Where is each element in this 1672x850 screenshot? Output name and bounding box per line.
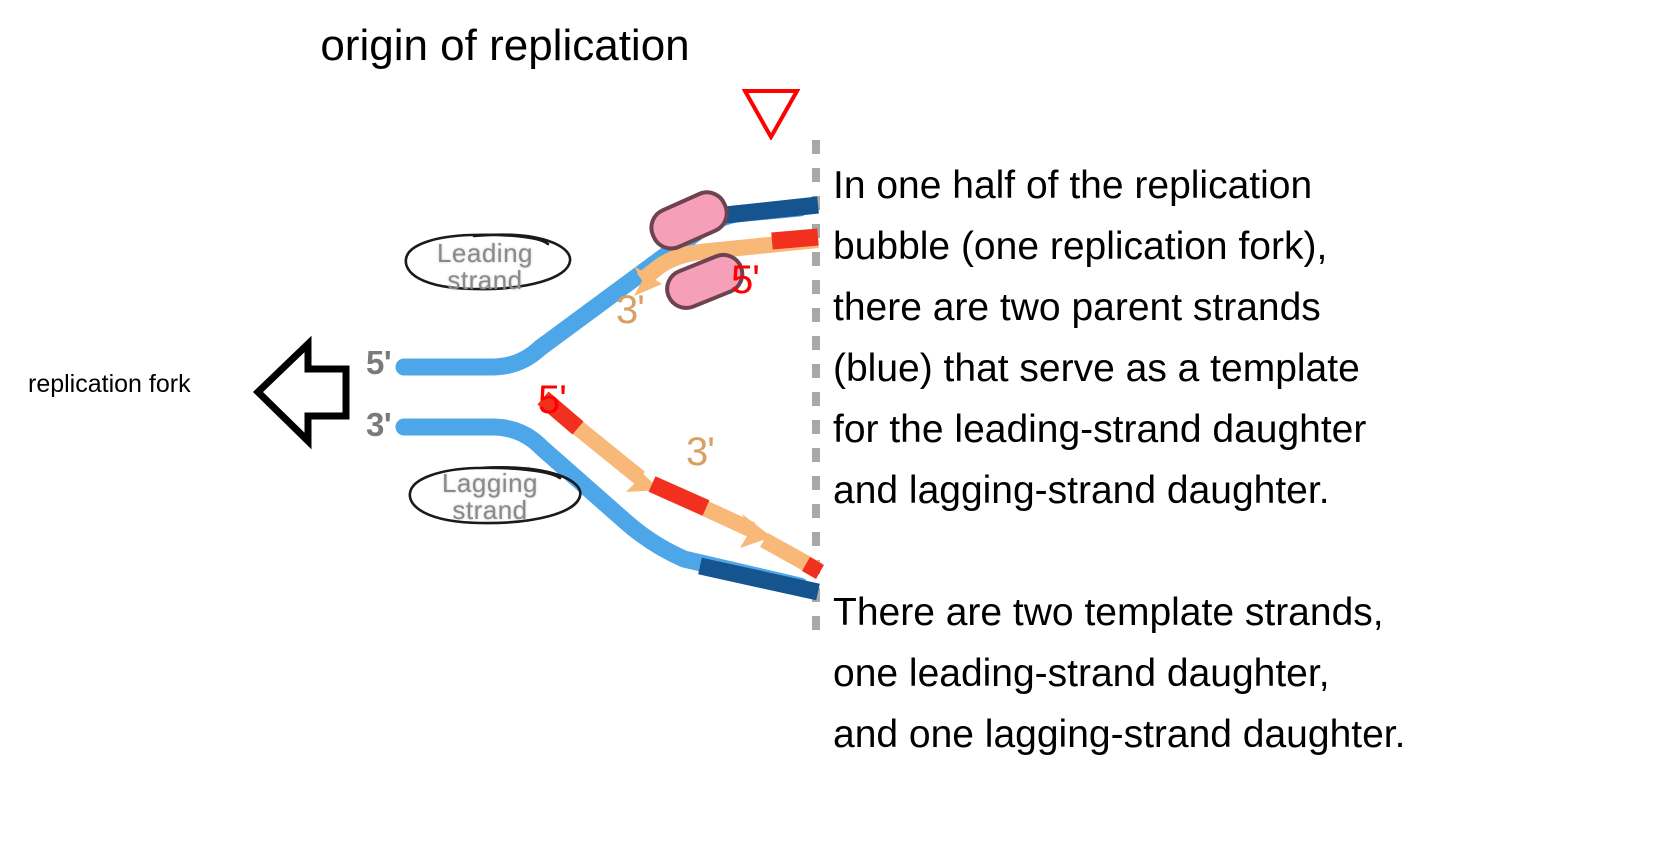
leading-daughter-strand [642, 240, 818, 280]
leading-primer-5prime-label: 5' [731, 258, 759, 303]
lagging-strand-annotation: Lagging strand [420, 470, 560, 523]
origin-dashed-axis [812, 140, 820, 632]
p2-line-1: There are two template strands, [833, 591, 1384, 634]
p2-line-2: one leading-strand daughter, [833, 652, 1330, 695]
paragraph-spacer [833, 521, 1653, 582]
p1-line-2: bubble (one replication fork), [833, 225, 1327, 268]
replication-fork-arrow [258, 344, 346, 441]
p1-line-6: and lagging-strand daughter. [833, 469, 1330, 512]
template-top-5prime-label: 5' [366, 344, 391, 382]
explanation-paragraph-1: In one half of the replication bubble (o… [833, 155, 1653, 521]
lagging-template-navy-segment [700, 566, 818, 592]
p2-line-3: and one lagging-strand daughter. [833, 713, 1405, 756]
leading-daughter-3prime-label: 3' [616, 288, 644, 333]
lagging-annotation-line1: Lagging [442, 468, 538, 498]
p1-line-1: In one half of the replication [833, 164, 1312, 207]
origin-marker-triangle [742, 88, 800, 140]
leading-template-navy-segment [716, 205, 818, 216]
leading-annotation-line2: strand [420, 267, 550, 294]
lagging-daughter-3prime-label: 3' [686, 430, 714, 475]
p1-line-3: there are two parent strands [833, 286, 1321, 329]
replication-fork-label: replication fork [28, 370, 191, 399]
explanatory-text-block: In one half of the replication bubble (o… [833, 155, 1653, 765]
lagging-annotation-line2: strand [420, 497, 560, 524]
page-title: origin of replication [0, 22, 1010, 70]
okazaki-fragment-1 [556, 410, 640, 478]
explanation-paragraph-2: There are two template strands, one lead… [833, 582, 1653, 765]
p1-line-4: (blue) that serve as a template [833, 347, 1360, 390]
leading-strand-annotation: Leading strand [420, 240, 550, 293]
okazaki-fragment-1-arrowhead [626, 462, 660, 492]
leading-annotation-line1: Leading [437, 238, 533, 268]
p1-line-5: for the leading-strand daughter [833, 408, 1366, 451]
replication-fork-slide: origin of replication [0, 0, 1672, 850]
okazaki-fragment-2-arrowhead [740, 514, 772, 548]
lagging-primer-5prime-label: 5' [538, 378, 566, 423]
polymerase-upper [645, 186, 733, 254]
okazaki-fragment-3 [764, 540, 818, 570]
template-bottom-3prime-label: 3' [366, 406, 391, 444]
okazaki-primer-2 [652, 484, 706, 508]
okazaki-fragment-2 [652, 484, 752, 530]
